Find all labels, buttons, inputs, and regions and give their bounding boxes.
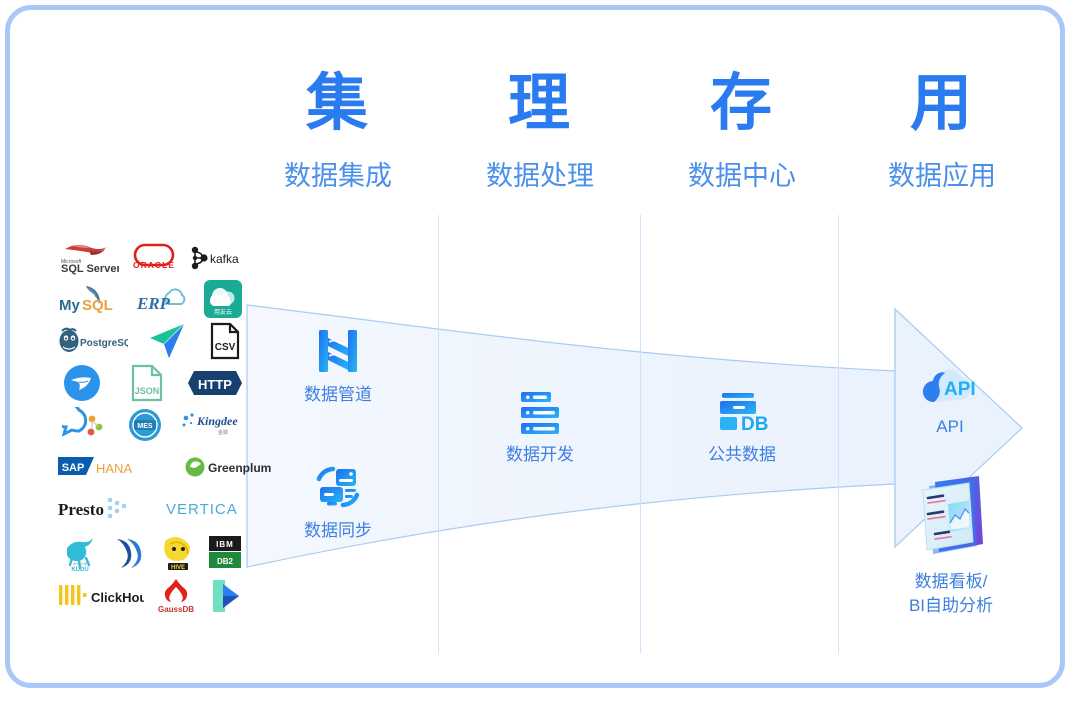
svg-text:My: My bbox=[59, 297, 80, 314]
sync-icon bbox=[312, 462, 364, 512]
greenplum-logo[interactable]: Greenplum bbox=[184, 450, 276, 484]
presto-logo-text: Presto bbox=[58, 500, 104, 519]
stage-caption-bi-line1: 数据看板/ bbox=[876, 570, 1026, 594]
logo-row: MES Kingdee 金蝶 bbox=[58, 404, 243, 446]
logo-row: Presto VERTICA bbox=[58, 488, 243, 530]
svg-text:金蝶: 金蝶 bbox=[218, 429, 228, 436]
column-header-3: 用 数据应用 bbox=[842, 73, 1042, 191]
column-char-0: 集 bbox=[238, 73, 438, 135]
svg-text:IBM: IBM bbox=[216, 540, 234, 549]
cloud-api-icon-text: API bbox=[944, 379, 976, 400]
gaussdb-logo[interactable]: GaussDB bbox=[150, 579, 202, 613]
oracle-logo[interactable]: ORACLE bbox=[128, 241, 180, 275]
clickhouse-logo[interactable]: ClickHouse bbox=[58, 579, 144, 613]
logo-row: SAP HANA SAP HANA Greenplum bbox=[58, 446, 243, 488]
cloud-api-icon: API bbox=[914, 362, 986, 408]
pipeline-icon bbox=[313, 326, 363, 376]
sql-server-logo[interactable]: Microsoft SQL Server bbox=[58, 241, 120, 275]
column-header-0: 集 数据集成 bbox=[238, 73, 438, 191]
blue-wave-logo[interactable] bbox=[110, 535, 150, 569]
sap-hana-logo-text: SAP HANA bbox=[58, 478, 59, 479]
erp-logo-text: ERP bbox=[136, 294, 171, 313]
teal-arrow-logo[interactable] bbox=[207, 579, 243, 613]
kudu-logo-text: KUDU bbox=[71, 567, 88, 572]
mysql-logo-text: MySQL bbox=[58, 314, 59, 315]
diagram-frame: 集 数据集成 理 数据处理 存 数据中心 用 数据应用 数据管道 bbox=[5, 5, 1065, 688]
database-db-icon: DB bbox=[714, 392, 770, 436]
yonyou-cloud-logo[interactable]: 用友云 bbox=[203, 282, 243, 316]
column-label-0: 数据集成 bbox=[238, 161, 438, 191]
divider-1 bbox=[438, 215, 439, 653]
logo-row: APACHE KUDU HIVE bbox=[58, 530, 243, 574]
kudu-logo[interactable]: APACHE KUDU bbox=[58, 535, 102, 569]
svg-text:SAP: SAP bbox=[62, 462, 85, 474]
svg-text:SQL: SQL bbox=[82, 297, 113, 314]
vertica-logo-text: VERTICA bbox=[166, 501, 238, 518]
source-logo-grid: Microsoft SQL Server ORACLE k bbox=[58, 238, 243, 613]
sql-server-logo-text: SQL Server bbox=[61, 263, 119, 275]
greenplum-logo-text: Greenplum bbox=[208, 461, 271, 475]
yonyou-cloud-logo-text: 用友云 bbox=[214, 308, 232, 316]
csv-file-logo-text: CSV bbox=[215, 342, 236, 353]
mysql-logo[interactable]: My SQL MySQL bbox=[58, 282, 120, 316]
stage-data-pipeline[interactable]: 数据管道 bbox=[258, 326, 418, 406]
chat-bubble-logo[interactable] bbox=[58, 408, 110, 442]
logo-row: My SQL MySQL ERP 用友云 bbox=[58, 278, 243, 320]
hive-logo-text: HIVE bbox=[171, 565, 185, 571]
kingdee-logo-text: Kingdee bbox=[196, 414, 238, 428]
stage-caption-data-dev: 数据开发 bbox=[460, 444, 620, 466]
mes-logo[interactable]: MES bbox=[125, 408, 165, 442]
dashboard-bi-icon bbox=[905, 470, 997, 562]
mes-logo-text: MES bbox=[137, 423, 153, 430]
json-file-logo-text: JSON bbox=[134, 386, 159, 396]
logo-row: ClickHouse GaussDB bbox=[58, 574, 243, 618]
postgresql-logo-text: PostgreSQL bbox=[80, 338, 128, 349]
stage-caption-api: API bbox=[890, 416, 1010, 438]
kafka-logo-text: kafka bbox=[210, 252, 239, 266]
postgresql-logo[interactable]: PostgreSQL bbox=[58, 324, 128, 358]
column-char-3: 用 bbox=[842, 73, 1042, 135]
presto-logo[interactable]: Presto bbox=[58, 492, 140, 526]
column-label-1: 数据处理 bbox=[440, 161, 640, 191]
column-label-3: 数据应用 bbox=[842, 161, 1042, 191]
divider-3 bbox=[838, 215, 839, 653]
stage-api[interactable]: API API bbox=[890, 362, 1010, 438]
stage-public-data[interactable]: DB 公共数据 bbox=[662, 392, 822, 466]
ibm-db2-logo[interactable]: IBM DB2 bbox=[207, 535, 243, 569]
bird-circle-logo[interactable] bbox=[58, 366, 106, 400]
http-logo[interactable]: HTTP bbox=[187, 366, 243, 400]
column-char-1: 理 bbox=[440, 73, 640, 135]
ibm-db2-logo-text: DB2 bbox=[217, 557, 234, 566]
paper-plane-logo[interactable] bbox=[146, 324, 190, 358]
oracle-logo-text: ORACLE bbox=[133, 260, 175, 270]
svg-text:APACHE: APACHE bbox=[73, 562, 88, 566]
json-file-logo[interactable]: JSON bbox=[125, 366, 169, 400]
sap-hana-logo[interactable]: SAP HANA SAP HANA bbox=[58, 450, 140, 484]
divider-2 bbox=[640, 215, 641, 653]
stage-caption-data-sync: 数据同步 bbox=[258, 520, 418, 542]
svg-text:DB: DB bbox=[741, 414, 768, 435]
hive-logo[interactable]: HIVE bbox=[157, 535, 199, 569]
erp-logo[interactable]: ERP bbox=[135, 282, 189, 316]
stage-data-dev[interactable]: 数据开发 bbox=[460, 390, 620, 466]
vertica-logo[interactable]: VERTICA bbox=[166, 492, 256, 526]
stage-caption-bi-line2: BI自助分析 bbox=[876, 594, 1026, 618]
logo-row: JSON HTTP bbox=[58, 362, 243, 404]
column-label-2: 数据中心 bbox=[642, 161, 842, 191]
kafka-logo[interactable]: kafka bbox=[187, 241, 243, 275]
svg-text:HANA: HANA bbox=[96, 461, 132, 476]
csv-file-logo[interactable]: CSV bbox=[207, 324, 243, 358]
column-header-2: 存 数据中心 bbox=[642, 73, 842, 191]
kingdee-logo[interactable]: Kingdee 金蝶 bbox=[179, 408, 243, 442]
column-header-1: 理 数据处理 bbox=[440, 73, 640, 191]
stage-caption-public-data: 公共数据 bbox=[662, 444, 822, 466]
server-stack-icon bbox=[513, 390, 567, 436]
column-char-2: 存 bbox=[642, 73, 842, 135]
clickhouse-logo-text: ClickHouse bbox=[91, 590, 144, 605]
stage-bi[interactable]: 数据看板/ BI自助分析 bbox=[876, 470, 1026, 618]
stage-data-sync[interactable]: 数据同步 bbox=[258, 462, 418, 542]
stage-caption-data-pipeline: 数据管道 bbox=[258, 384, 418, 406]
http-logo-text: HTTP bbox=[198, 377, 232, 392]
gaussdb-logo-text: GaussDB bbox=[157, 605, 193, 614]
logo-row: Microsoft SQL Server ORACLE k bbox=[58, 238, 243, 278]
logo-row: PostgreSQL CSV bbox=[58, 320, 243, 362]
